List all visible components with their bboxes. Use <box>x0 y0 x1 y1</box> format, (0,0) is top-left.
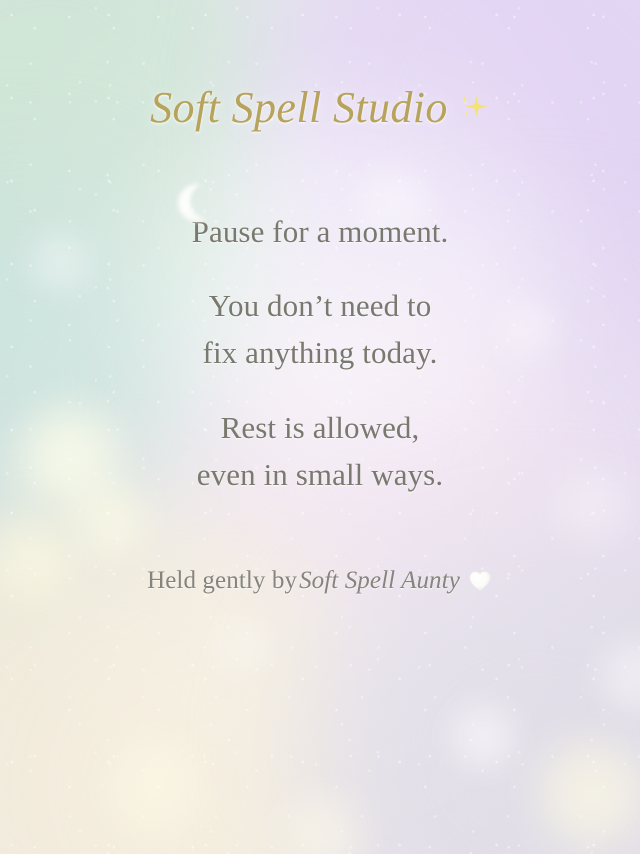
crescent-moon <box>174 179 222 227</box>
card-content: Soft Spell Studio <box>0 0 640 854</box>
quote-line: even in small ways. <box>197 454 443 495</box>
quote-line: Pause for a moment. <box>192 211 449 252</box>
white-heart-icon <box>467 568 493 594</box>
footer-signature: Held gently by Soft Spell Aunty <box>147 567 493 595</box>
quote-line: Rest is allowed, <box>221 407 420 448</box>
quote-line: You don’t need to <box>209 285 432 326</box>
page-title: Soft Spell Studio <box>150 82 448 133</box>
quote-body: Pause for a moment. You don’t need to fi… <box>0 211 640 495</box>
crescent-moon-icon <box>174 179 222 227</box>
footer-signature-name: Soft Spell Aunty <box>299 567 460 595</box>
quote-card: Soft Spell Studio <box>0 0 640 854</box>
sparkles-icon <box>454 90 490 126</box>
footer-prefix: Held gently by <box>147 567 297 595</box>
title-row: Soft Spell Studio <box>150 82 490 133</box>
quote-line: fix anything today. <box>203 332 438 373</box>
